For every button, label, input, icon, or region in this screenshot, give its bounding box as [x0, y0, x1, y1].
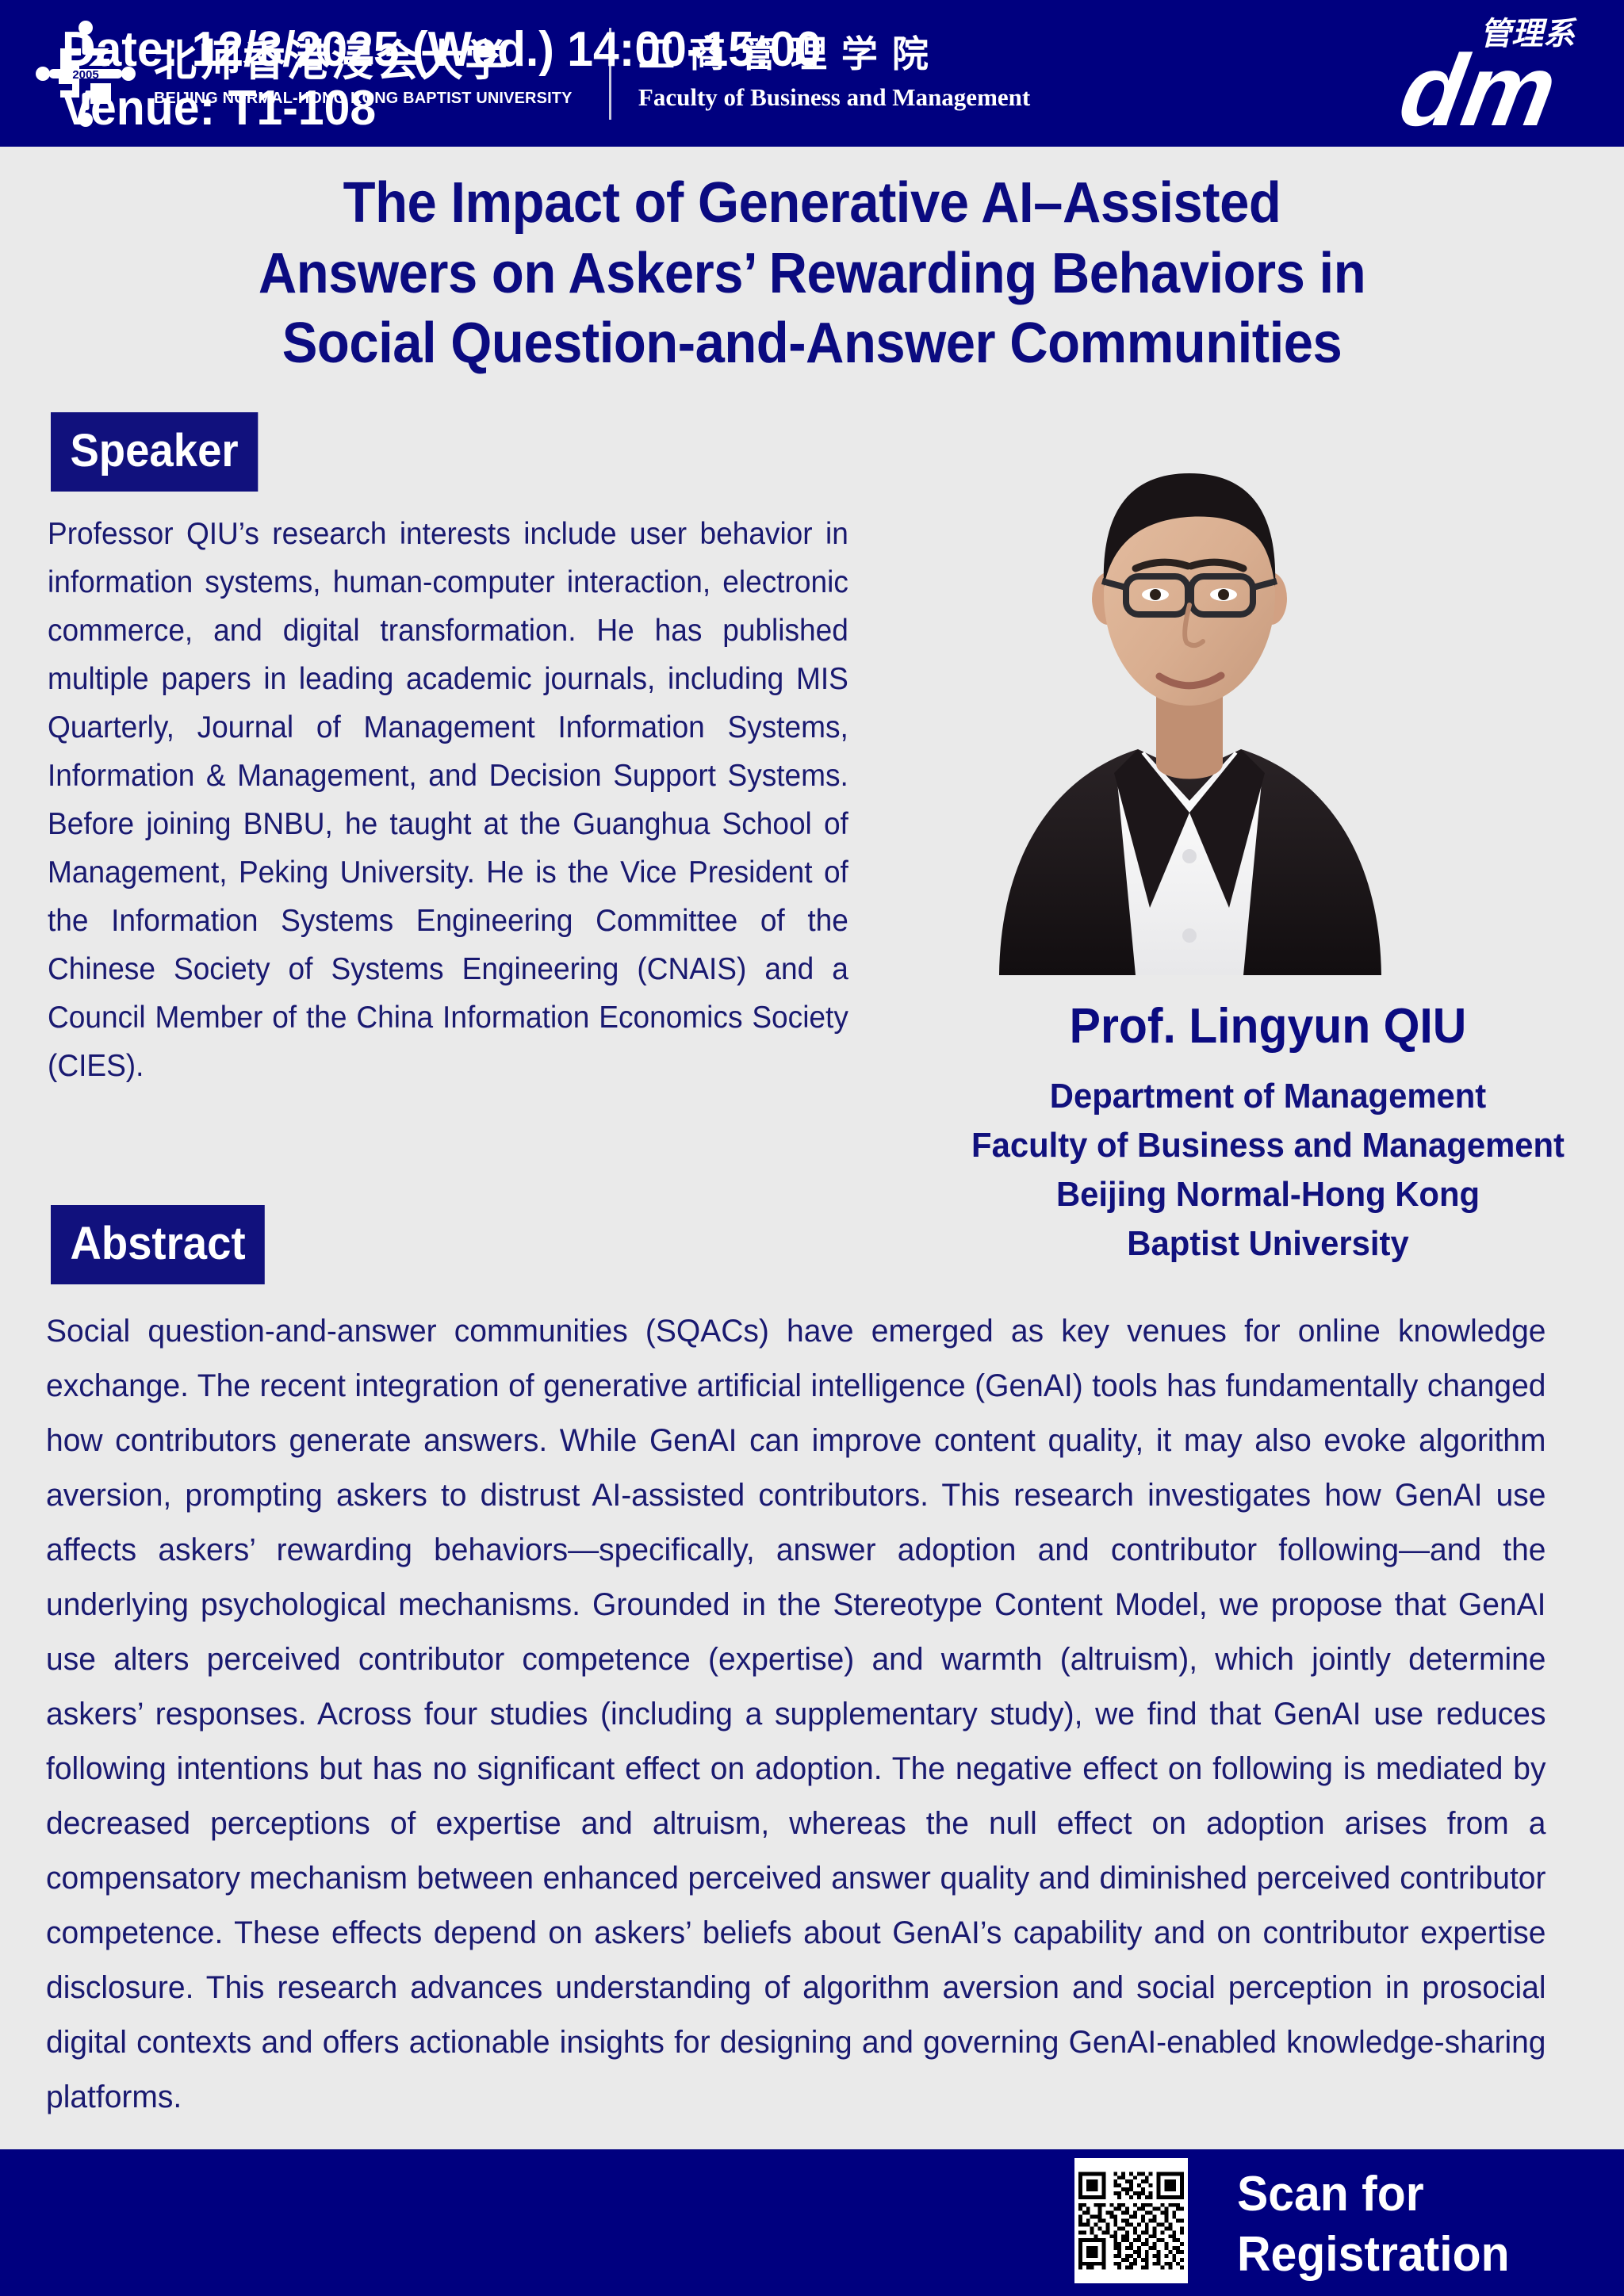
affiliation-line-2: Faculty of Business and Management — [929, 1121, 1606, 1170]
poster-title: The Impact of Generative AI–Assisted Ans… — [57, 168, 1568, 379]
dm-logo-text: dm — [1392, 34, 1565, 141]
affiliation-line-4: Baptist University — [929, 1219, 1606, 1269]
affiliation-line-1: Department of Management — [929, 1072, 1606, 1121]
speaker-affiliation: Department of Management Faculty of Busi… — [929, 1072, 1606, 1269]
scan-line-1: Scan for — [1237, 2164, 1510, 2225]
affiliation-line-3: Beijing Normal-Hong Kong — [929, 1170, 1606, 1219]
title-line-3: Social Question-and-Answer Communities — [57, 308, 1568, 379]
seminar-poster: 2005 北师香港浸会大学 BEIJING NORMAL-HONG KONG B… — [0, 0, 1624, 2296]
registration-qr-code[interactable] — [1074, 2158, 1188, 2283]
scan-for-registration-label: Scan for Registration — [1237, 2164, 1510, 2285]
scan-line-2: Registration — [1237, 2225, 1510, 2285]
speaker-name: Prof. Lingyun QIU — [929, 1001, 1606, 1052]
speaker-section-badge: Speaker — [51, 412, 258, 492]
event-venue: Venue: T1-108 — [62, 79, 822, 138]
event-date: Date: 12/3/2025 (Wed.) 14:00-15:00 — [62, 21, 822, 79]
abstract-body-text: Social question-and-answer communities (… — [46, 1304, 1546, 2125]
title-line-1: The Impact of Generative AI–Assisted — [57, 168, 1568, 239]
event-details: Date: 12/3/2025 (Wed.) 14:00-15:00 Venue… — [62, 21, 822, 138]
speaker-bio-text: Professor QIU’s research interests inclu… — [48, 510, 848, 1090]
title-line-2: Answers on Askers’ Rewarding Behaviors i… — [57, 239, 1568, 309]
speaker-portrait-photo — [952, 400, 1427, 975]
abstract-section-badge: Abstract — [51, 1205, 265, 1284]
department-dm-logo-icon: 管理系 dm — [1386, 6, 1600, 141]
